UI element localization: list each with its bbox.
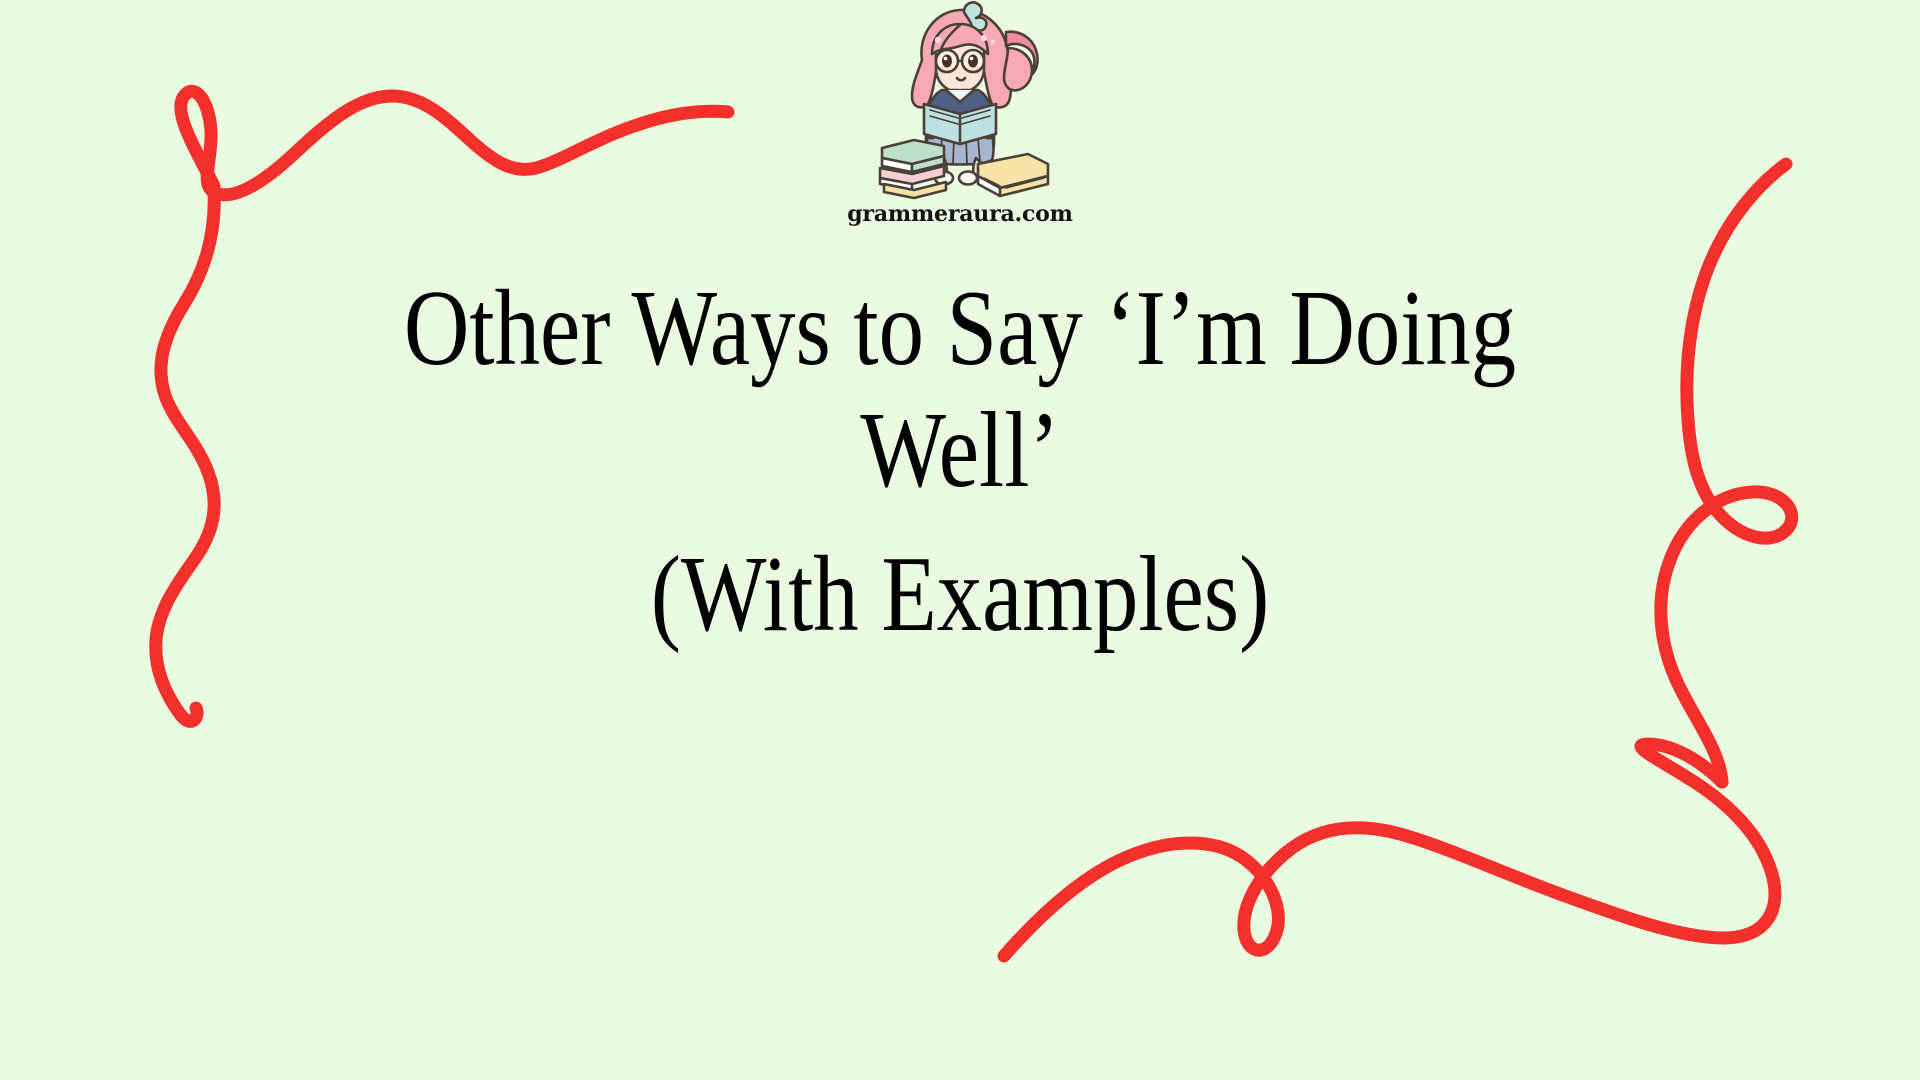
page-title-line-2: Well’ xyxy=(154,390,1767,512)
title-card-canvas: grammeraura.com Other Ways to Say ‘I’m D… xyxy=(0,0,1920,1080)
brand-name: grammeraura.com xyxy=(847,201,1072,227)
brand-block: grammeraura.com xyxy=(0,0,1920,227)
red-curly-line-bottom-right xyxy=(1560,744,1775,938)
red-curly-line-bottom xyxy=(1004,828,1560,956)
page-title-line-3: (With Examples) xyxy=(154,534,1767,656)
page-title-line-1: Other Ways to Say ‘I’m Doing xyxy=(154,268,1767,390)
page-title: Other Ways to Say ‘I’m Doing Well’ (With… xyxy=(0,268,1920,656)
girl-reading-book-icon xyxy=(860,0,1060,203)
